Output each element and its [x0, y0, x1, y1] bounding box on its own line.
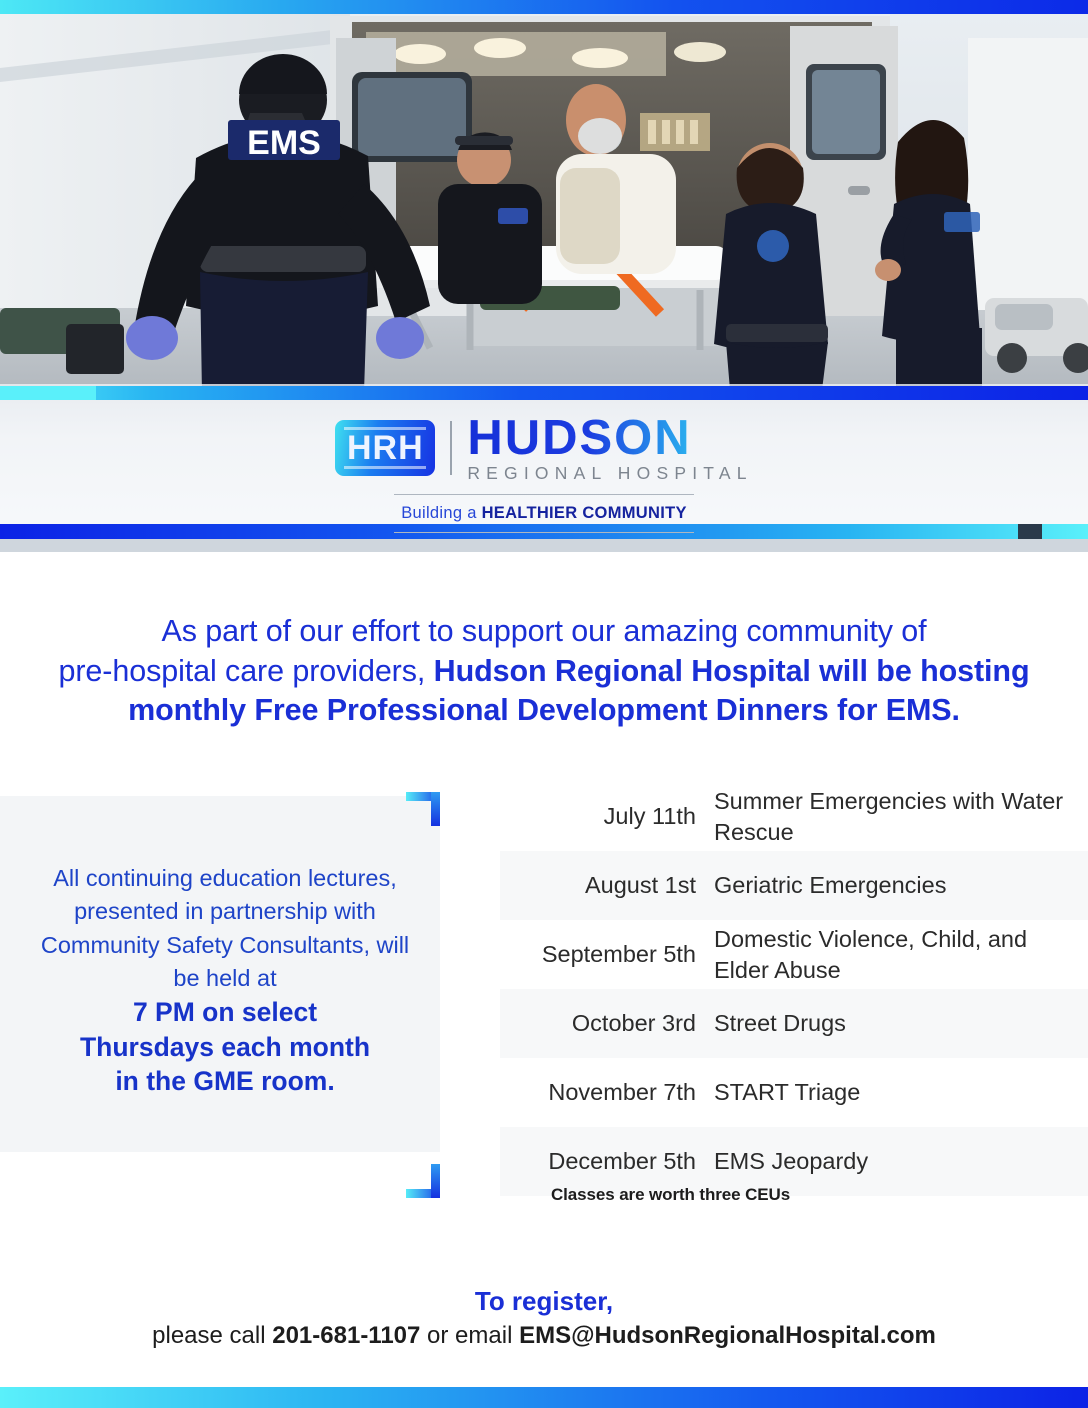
- ceu-note: Classes are worth three CEUs: [551, 1185, 790, 1205]
- accent-stripe-mid: [0, 386, 1088, 400]
- register-title: To register,: [0, 1286, 1088, 1317]
- schedule-topic: EMS Jeopardy: [708, 1146, 1088, 1176]
- tagline-rule-top: [394, 494, 694, 495]
- info-panel-emphasis-1: 7 PM on select: [30, 995, 420, 1029]
- headline: As part of our effort to support our ama…: [44, 612, 1044, 731]
- logo-subtitle: REGIONAL HOSPITAL: [467, 465, 752, 483]
- headline-line-3-bold: monthly Free Professional Development Di…: [128, 693, 960, 727]
- schedule-topic: Summer Emergencies with Water Rescue: [708, 786, 1088, 846]
- table-row: July 11th Summer Emergencies with Water …: [500, 782, 1088, 851]
- schedule-topic: Domestic Violence, Child, and Elder Abus…: [708, 924, 1088, 984]
- table-row: October 3rd Street Drugs: [500, 989, 1088, 1058]
- hrh-monogram-text: HRH: [347, 431, 424, 465]
- tagline-rule-bottom: [394, 532, 694, 533]
- headline-line-1: As part of our effort to support our ama…: [44, 612, 1044, 652]
- info-panel-paragraph: All continuing education lectures, prese…: [41, 865, 397, 958]
- hero-banner: EMS: [0, 0, 1088, 552]
- call-prefix: please call: [152, 1322, 272, 1349]
- accent-stripe-footer: [0, 1387, 1088, 1408]
- or-email-text: or email: [420, 1322, 519, 1349]
- schedule-date: September 5th: [500, 939, 708, 969]
- headline-line-2-bold: Hudson Regional Hospital will be hosting: [434, 654, 1030, 688]
- headline-line-2-plain: pre-hospital care providers,: [59, 654, 434, 688]
- accent-stripe-top: [0, 0, 1088, 14]
- schedule-topic: Street Drugs: [708, 1008, 1088, 1038]
- info-panel-emphasis-3: in the GME room.: [30, 1064, 420, 1098]
- schedule-date: August 1st: [500, 870, 708, 900]
- schedule-date: October 3rd: [500, 1008, 708, 1038]
- schedule-date: November 7th: [500, 1077, 708, 1107]
- hrh-monogram-icon: HRH: [335, 420, 435, 476]
- bracket-top-right-icon: [406, 792, 440, 826]
- hospital-logo: HRH HUDSON REGIONAL HOSPITAL Building a …: [0, 414, 1088, 533]
- table-row: September 5th Domestic Violence, Child, …: [500, 920, 1088, 989]
- logo-wordmark: HUDSON: [467, 414, 752, 462]
- logo-divider: [450, 421, 452, 475]
- svg-text:EMS: EMS: [247, 124, 321, 162]
- tagline-emphasis: HEALTHIER COMMUNITY: [482, 504, 687, 522]
- schedule-date: July 11th: [500, 801, 708, 831]
- ems-ambulance-photo: EMS: [0, 8, 1088, 390]
- schedule-table: July 11th Summer Emergencies with Water …: [500, 782, 1088, 1196]
- schedule-topic: Geriatric Emergencies: [708, 870, 1088, 900]
- register-contact-line: please call 201-681-1107 or email EMS@Hu…: [0, 1322, 1088, 1350]
- headline-line-3: monthly Free Professional Development Di…: [44, 691, 1044, 731]
- schedule-date: December 5th: [500, 1146, 708, 1176]
- headline-line-2: pre-hospital care providers, Hudson Regi…: [44, 652, 1044, 692]
- tagline: Building a HEALTHIER COMMUNITY: [0, 504, 1088, 523]
- phone-number[interactable]: 201-681-1107: [272, 1322, 420, 1349]
- table-row: August 1st Geriatric Emergencies: [500, 851, 1088, 920]
- bracket-bottom-right-icon: [406, 1164, 440, 1198]
- schedule-topic: START Triage: [708, 1077, 1088, 1107]
- email-address[interactable]: EMS@HudsonRegionalHospital.com: [519, 1322, 936, 1349]
- accent-stripe-mid-cap: [0, 386, 96, 400]
- table-row: November 7th START Triage: [500, 1058, 1088, 1127]
- info-panel-emphasis-2: Thursdays each month: [30, 1030, 420, 1064]
- tagline-prefix: Building a: [401, 504, 481, 522]
- info-panel-text: All continuing education lectures, prese…: [30, 862, 420, 1099]
